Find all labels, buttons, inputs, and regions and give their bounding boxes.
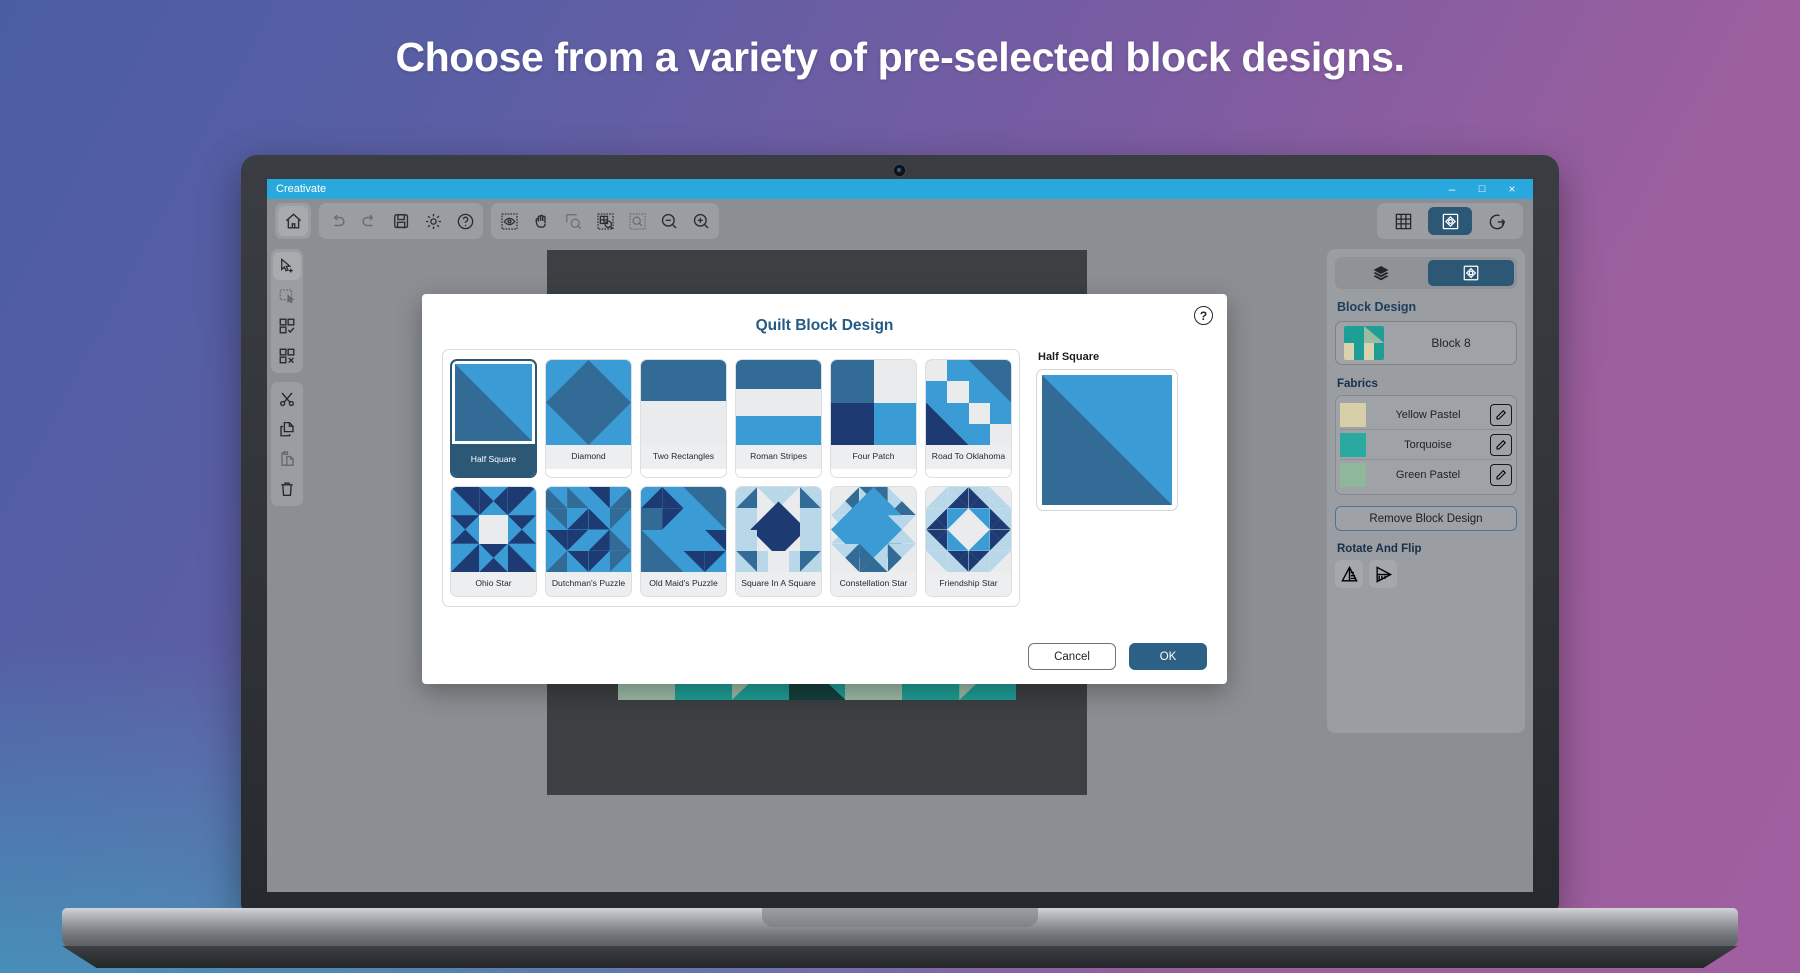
block-artwork	[641, 487, 726, 572]
help-icon[interactable]: ?	[1194, 306, 1213, 325]
block-card-diamond[interactable]: Diamond	[545, 359, 632, 478]
block-card-label: Friendship Star	[926, 572, 1011, 596]
preview-artwork	[1042, 375, 1172, 505]
block-card-label: Square In A Square	[736, 572, 821, 596]
block-artwork	[926, 360, 1011, 445]
block-card-friendship-star[interactable]: Friendship Star	[925, 486, 1012, 597]
block-artwork	[736, 360, 821, 445]
block-card-label: Ohio Star	[451, 572, 536, 596]
modal-overlay: ? Quilt Block Design Half SquareDiamondT…	[267, 179, 1533, 892]
block-card-label: Diamond	[546, 445, 631, 469]
block-artwork	[455, 364, 532, 441]
block-grid-container: Half SquareDiamondTwo RectanglesRoman St…	[442, 349, 1020, 607]
block-artwork	[926, 487, 1011, 572]
laptop-foot	[38, 946, 1762, 968]
cancel-button[interactable]: Cancel	[1028, 643, 1116, 670]
page-headline: Choose from a variety of pre-selected bl…	[0, 34, 1800, 81]
block-artwork	[546, 487, 631, 572]
laptop-lid: Creativate – ☐ ×	[241, 155, 1559, 910]
block-artwork	[451, 487, 536, 572]
block-card-label: Dutchman's Puzzle	[546, 572, 631, 596]
block-card-two-rectangles[interactable]: Two Rectangles	[640, 359, 727, 478]
block-card-road-to-oklahoma[interactable]: Road To Oklahoma	[925, 359, 1012, 478]
quilt-block-design-dialog: ? Quilt Block Design Half SquareDiamondT…	[422, 294, 1227, 684]
block-card-label: Two Rectangles	[641, 445, 726, 469]
block-grid: Half SquareDiamondTwo RectanglesRoman St…	[450, 359, 1012, 597]
dialog-title: Quilt Block Design	[442, 317, 1207, 335]
block-preview-pane: Half Square	[1036, 349, 1207, 607]
block-card-roman-stripes[interactable]: Roman Stripes	[735, 359, 822, 478]
block-card-constellation-star[interactable]: Constellation Star	[830, 486, 917, 597]
block-card-label: Half Square	[452, 444, 535, 476]
block-artwork	[641, 360, 726, 445]
preview-box	[1036, 369, 1178, 511]
webcam-icon	[894, 165, 905, 176]
block-artwork	[831, 487, 916, 572]
ok-button[interactable]: OK	[1129, 643, 1207, 670]
block-card-label: Old Maid's Puzzle	[641, 572, 726, 596]
block-card-label: Four Patch	[831, 445, 916, 469]
block-card-dutchmans-puzzle[interactable]: Dutchman's Puzzle	[545, 486, 632, 597]
block-artwork	[736, 487, 821, 572]
block-card-square-in-square[interactable]: Square In A Square	[735, 486, 822, 597]
block-card-ohio-star[interactable]: Ohio Star	[450, 486, 537, 597]
block-card-half-square[interactable]: Half Square	[450, 359, 537, 478]
preview-label: Half Square	[1038, 351, 1207, 363]
laptop-screen: Creativate – ☐ ×	[267, 179, 1533, 892]
block-card-label: Constellation Star	[831, 572, 916, 596]
block-artwork	[546, 360, 631, 445]
dialog-footer: Cancel OK	[1028, 643, 1207, 670]
block-artwork	[831, 360, 916, 445]
block-card-label: Road To Oklahoma	[926, 445, 1011, 469]
block-card-old-maids-puzzle[interactable]: Old Maid's Puzzle	[640, 486, 727, 597]
block-card-four-patch[interactable]: Four Patch	[830, 359, 917, 478]
laptop-base	[62, 908, 1738, 950]
block-card-label: Roman Stripes	[736, 445, 821, 469]
